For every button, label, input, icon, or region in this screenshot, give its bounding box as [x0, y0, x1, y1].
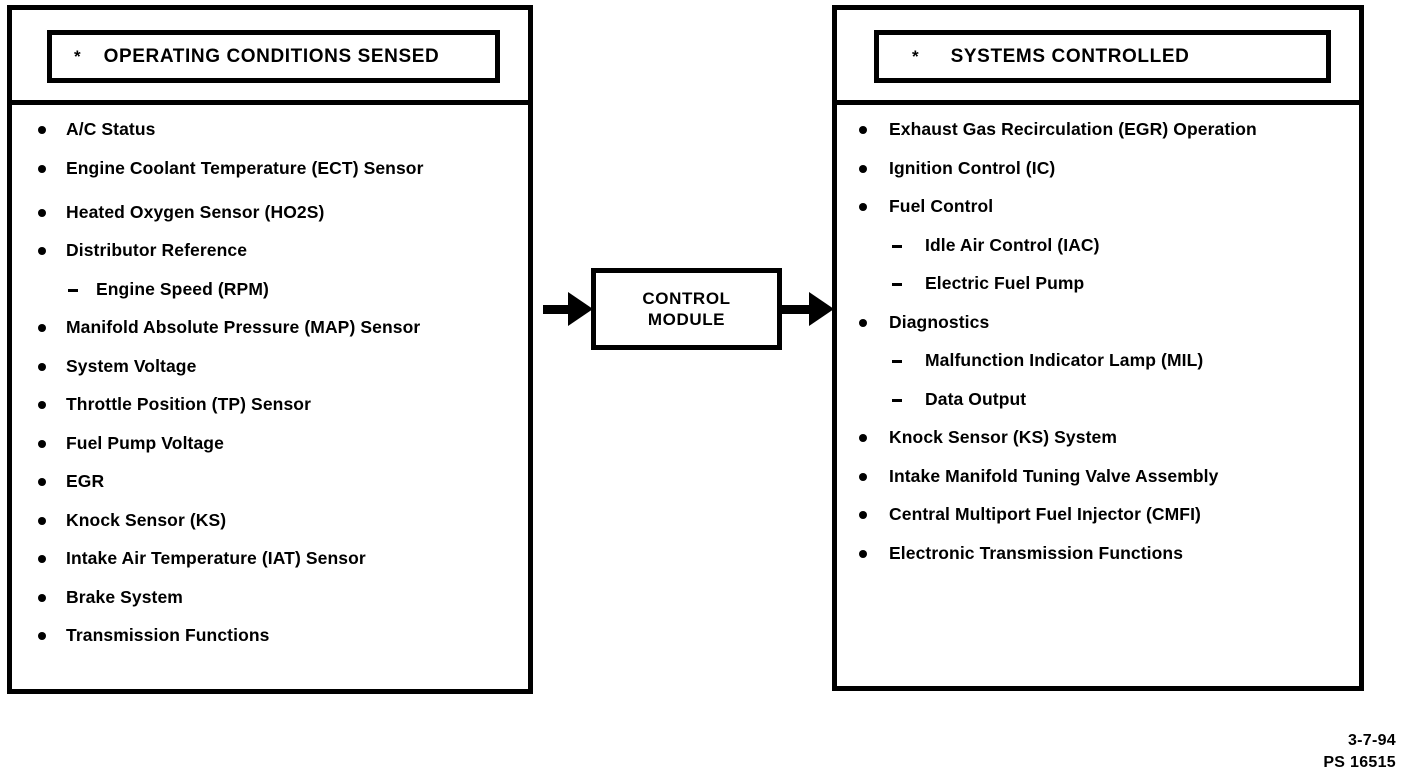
list-item: Manifold Absolute Pressure (MAP) Sensor	[12, 316, 528, 338]
list-item: Knock Sensor (KS) System	[837, 426, 1359, 448]
control-module-label-line2: MODULE	[648, 309, 725, 330]
list-item: Transmission Functions	[12, 624, 528, 646]
arrow-head	[568, 292, 593, 326]
footer-reference: PS 16515	[1323, 752, 1396, 774]
control-module-block-diagram: * OPERATING CONDITIONS SENSED A/C Status…	[0, 0, 1408, 782]
list-item: Diagnostics	[837, 311, 1359, 333]
list-item: Fuel Control	[837, 195, 1359, 217]
operating-conditions-list: A/C StatusEngine Coolant Temperature (EC…	[12, 118, 528, 646]
list-item: Distributor Reference	[12, 239, 528, 261]
operating-conditions-sensed-panel: * OPERATING CONDITIONS SENSED A/C Status…	[7, 5, 533, 694]
arrow-shaft	[780, 305, 809, 314]
list-item: EGR	[12, 470, 528, 492]
left-panel-title: OPERATING CONDITIONS SENSED	[104, 46, 440, 68]
asterisk-icon: *	[52, 48, 91, 65]
asterisk-icon: *	[879, 48, 929, 65]
list-item: Knock Sensor (KS)	[12, 509, 528, 531]
list-item: A/C Status	[12, 118, 528, 140]
right-panel-title-box: * SYSTEMS CONTROLLED	[874, 30, 1331, 83]
footer-caption: 3-7-94 PS 16515	[1323, 730, 1396, 774]
left-panel-title-box: * OPERATING CONDITIONS SENSED	[47, 30, 500, 83]
list-sub-item: Idle Air Control (IAC)	[837, 234, 1359, 256]
list-item: Exhaust Gas Recirculation (EGR) Operatio…	[837, 118, 1359, 140]
systems-controlled-list: Exhaust Gas Recirculation (EGR) Operatio…	[837, 118, 1359, 564]
arrow-into-control-module-icon	[543, 291, 593, 327]
list-item: Electronic Transmission Functions	[837, 542, 1359, 564]
list-item: System Voltage	[12, 355, 528, 377]
left-panel-header: * OPERATING CONDITIONS SENSED	[12, 10, 528, 105]
list-item: Brake System	[12, 586, 528, 608]
list-item: Heated Oxygen Sensor (HO2S)	[12, 201, 528, 223]
arrow-head	[809, 292, 834, 326]
right-panel-header: * SYSTEMS CONTROLLED	[837, 10, 1359, 105]
list-item: Ignition Control (IC)	[837, 157, 1359, 179]
list-item: Intake Air Temperature (IAT) Sensor	[12, 547, 528, 569]
right-panel-title: SYSTEMS CONTROLLED	[951, 46, 1190, 68]
list-sub-item: Engine Speed (RPM)	[12, 278, 528, 300]
list-sub-item: Electric Fuel Pump	[837, 272, 1359, 294]
left-panel-body: A/C StatusEngine Coolant Temperature (EC…	[12, 105, 528, 646]
right-panel-body: Exhaust Gas Recirculation (EGR) Operatio…	[837, 105, 1359, 564]
list-item: Throttle Position (TP) Sensor	[12, 393, 528, 415]
list-item: Fuel Pump Voltage	[12, 432, 528, 454]
list-item: Engine Coolant Temperature (ECT) Sensor	[12, 157, 528, 179]
control-module-label-line1: CONTROL	[642, 288, 730, 309]
list-sub-item: Data Output	[837, 388, 1359, 410]
footer-date: 3-7-94	[1323, 730, 1396, 752]
systems-controlled-panel: * SYSTEMS CONTROLLED Exhaust Gas Recircu…	[832, 5, 1364, 691]
list-item: Central Multiport Fuel Injector (CMFI)	[837, 503, 1359, 525]
control-module-box: CONTROL MODULE	[591, 268, 782, 350]
arrow-out-of-control-module-icon	[780, 291, 834, 327]
list-sub-item: Malfunction Indicator Lamp (MIL)	[837, 349, 1359, 371]
list-item: Intake Manifold Tuning Valve Assembly	[837, 465, 1359, 487]
arrow-shaft	[543, 305, 568, 314]
